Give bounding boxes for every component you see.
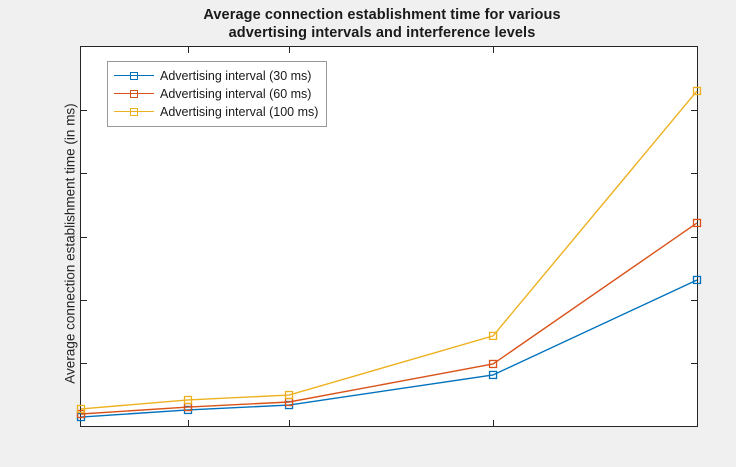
legend-swatch: [114, 69, 154, 83]
legend-swatch: [114, 105, 154, 119]
legend-marker: [130, 108, 138, 116]
data-series: [78, 276, 701, 420]
legend-label: Advertising interval (30 ms): [160, 69, 311, 83]
series-line: [81, 223, 697, 414]
plot-area: Average connection establishment time (i…: [80, 46, 698, 427]
y-axis-label: Average connection establishment time (i…: [63, 0, 78, 467]
legend-swatch: [114, 87, 154, 101]
data-series: [78, 219, 701, 417]
legend-item[interactable]: Advertising interval (30 ms): [114, 67, 318, 85]
legend-label: Advertising interval (100 ms): [160, 105, 318, 119]
legend-item[interactable]: Advertising interval (60 ms): [114, 85, 318, 103]
legend-marker: [130, 90, 138, 98]
legend-label: Advertising interval (60 ms): [160, 87, 311, 101]
figure-canvas: Average connection establishment time fo…: [0, 0, 736, 467]
legend: Advertising interval (30 ms)Advertising …: [107, 61, 327, 127]
legend-marker: [130, 72, 138, 80]
series-line: [81, 91, 697, 409]
chart-title-line-2: advertising intervals and interference l…: [68, 24, 696, 42]
chart-title-line-1: Average connection establishment time fo…: [68, 6, 696, 24]
chart-title: Average connection establishment time fo…: [68, 6, 696, 42]
series-line: [81, 280, 697, 417]
legend-item[interactable]: Advertising interval (100 ms): [114, 103, 318, 121]
data-series: [78, 87, 701, 412]
